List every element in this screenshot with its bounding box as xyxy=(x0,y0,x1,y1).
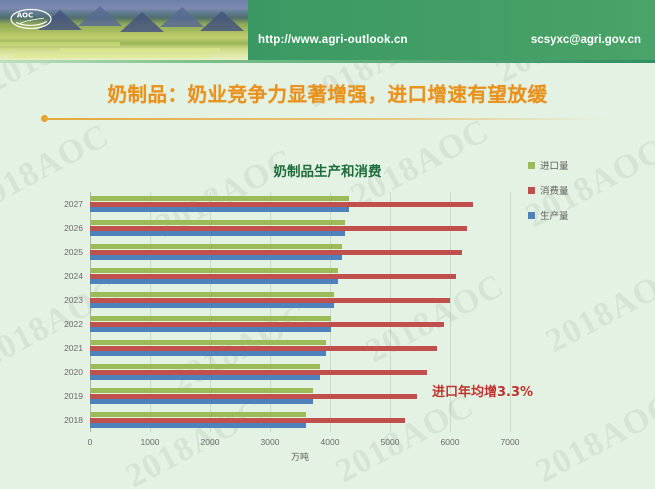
x-axis-tick-label: 2000 xyxy=(201,437,220,447)
x-axis-title: 万吨 xyxy=(90,450,510,463)
chart-bar xyxy=(90,279,338,284)
x-axis-tick-label: 3000 xyxy=(261,437,280,447)
legend-item[interactable]: 生产量 xyxy=(528,208,569,222)
y-axis-tick-label: 2019 xyxy=(64,391,83,401)
title-underline-rule xyxy=(44,118,609,120)
chart-category-row: 2024 xyxy=(90,264,510,288)
chart-bar xyxy=(90,274,456,279)
chart-bar xyxy=(90,388,313,393)
chart-bar xyxy=(90,418,405,423)
legend-item[interactable]: 进口量 xyxy=(528,158,569,172)
chart-bar xyxy=(90,316,331,321)
chart-category-row: 2018 xyxy=(90,408,510,432)
chart-bar xyxy=(90,322,444,327)
chart-category-row: 2021 xyxy=(90,336,510,360)
x-axis-tick-label: 4000 xyxy=(321,437,340,447)
chart-bar xyxy=(90,370,427,375)
legend-item-label: 生产量 xyxy=(540,208,569,222)
y-axis-tick-label: 2024 xyxy=(64,271,83,281)
chart-bar xyxy=(90,226,467,231)
mountain-shape xyxy=(160,7,204,27)
field-stripe xyxy=(0,42,120,46)
header-email[interactable]: scsyxc@agri.gov.cn xyxy=(531,34,641,46)
chart-bar xyxy=(90,207,349,212)
chart-annotation: 进口年均增3.3% xyxy=(432,381,533,400)
chart-category-row: 2026 xyxy=(90,216,510,240)
y-axis-tick-label: 2023 xyxy=(64,295,83,305)
slide-root: 2018AOC 2018AOC 2018AOC 2018AOC 2018AOC … xyxy=(0,0,655,489)
y-axis-tick-label: 2025 xyxy=(64,247,83,257)
legend-swatch-icon xyxy=(528,162,535,169)
chart-bar xyxy=(90,250,462,255)
chart-legend: 进口量消费量生产量 xyxy=(528,158,569,233)
chart-bar xyxy=(90,220,345,225)
chart-bar xyxy=(90,196,349,201)
mountain-shape xyxy=(78,6,122,26)
chart-bar xyxy=(90,268,338,273)
y-axis-tick-label: 2020 xyxy=(64,367,83,377)
header-divider xyxy=(0,60,655,63)
chart-bar xyxy=(90,292,334,297)
x-axis-tick-label: 0 xyxy=(88,437,93,447)
chart-bar xyxy=(90,412,306,417)
chart-bar xyxy=(90,423,306,428)
x-axis-tick-label: 5000 xyxy=(381,437,400,447)
aoc-logo-text: AOC xyxy=(17,12,34,20)
y-axis-tick-label: 2027 xyxy=(64,199,83,209)
field-stripe xyxy=(60,48,220,52)
chart-bar xyxy=(90,340,326,345)
chart-category-row: 2025 xyxy=(90,240,510,264)
chart-bar xyxy=(90,399,313,404)
x-axis-tick-label: 1000 xyxy=(141,437,160,447)
header-website-url[interactable]: http://www.agri-outlook.cn xyxy=(258,34,408,46)
y-axis-tick-label: 2022 xyxy=(64,319,83,329)
legend-item-label: 消费量 xyxy=(540,183,569,197)
legend-swatch-icon xyxy=(528,212,535,219)
legend-item-label: 进口量 xyxy=(540,158,569,172)
chart-bar xyxy=(90,202,473,207)
y-axis-tick-label: 2018 xyxy=(64,415,83,425)
chart-bar xyxy=(90,327,331,332)
legend-item[interactable]: 消费量 xyxy=(528,183,569,197)
x-axis-tick-label: 6000 xyxy=(441,437,460,447)
chart-category-row: 2027 xyxy=(90,192,510,216)
chart-bar xyxy=(90,244,342,249)
chart-bar xyxy=(90,351,326,356)
mountain-shape xyxy=(120,12,164,32)
chart-bar xyxy=(90,255,342,260)
chart-bar xyxy=(90,303,334,308)
field-stripe xyxy=(10,54,210,58)
aoc-logo-icon: AOC xyxy=(10,8,52,30)
header-band: AOC http://www.agri-outlook.cn scsyxc@ag… xyxy=(0,0,655,60)
chart-bar xyxy=(90,364,320,369)
chart-category-row: 2022 xyxy=(90,312,510,336)
chart-bar xyxy=(90,375,320,380)
chart-bar xyxy=(90,231,345,236)
chart-bar xyxy=(90,298,450,303)
chart-category-row: 2023 xyxy=(90,288,510,312)
y-axis-tick-label: 2021 xyxy=(64,343,83,353)
page-title: 奶制品：奶业竞争力显著增强，进口增速有望放缓 xyxy=(0,78,655,107)
chart-bar xyxy=(90,394,417,399)
legend-swatch-icon xyxy=(528,187,535,194)
y-axis-tick-label: 2026 xyxy=(64,223,83,233)
mountain-shape xyxy=(200,11,244,31)
chart-bar xyxy=(90,346,437,351)
x-axis-tick-label: 7000 xyxy=(501,437,520,447)
